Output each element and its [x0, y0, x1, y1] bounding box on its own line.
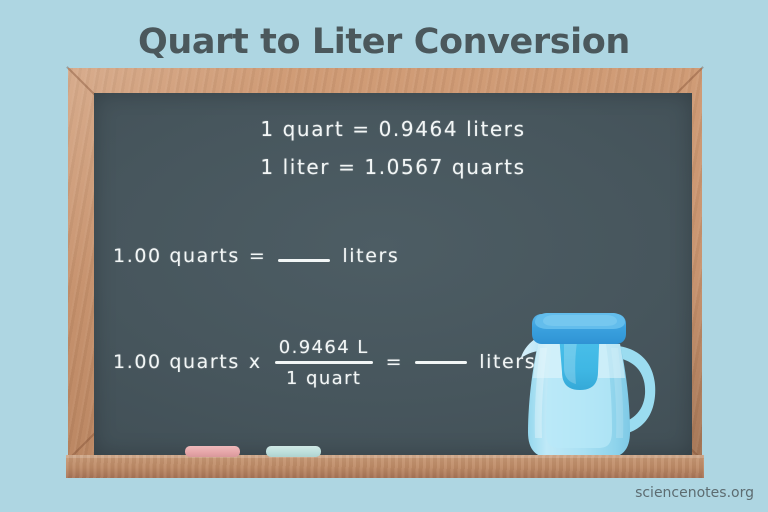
work-equals-sign: =	[386, 351, 404, 373]
fraction-denominator: 1 quart	[282, 364, 365, 389]
pink-chalk-stick	[185, 446, 240, 457]
conversion-factor-fraction: 0.9464 L 1 quart	[275, 337, 373, 389]
board-surface: 1 quart = 0.9464 liters 1 liter = 1.0567…	[94, 93, 692, 455]
pitcher-lid-top-highlight	[543, 315, 617, 326]
work-multiply-sign: x	[249, 351, 262, 373]
conversion-line-quart-to-liter: 1 quart = 0.9464 liters	[94, 117, 692, 141]
setup-quantity: 1.00 quarts	[113, 245, 240, 267]
water-pitcher-icon	[514, 300, 662, 475]
setup-answer-blank	[278, 259, 330, 262]
chalk-ledge	[66, 455, 704, 478]
setup-equation: 1.00 quarts = liters	[113, 245, 399, 267]
setup-equals-sign: =	[249, 245, 267, 267]
chalkboard: 1 quart = 0.9464 liters 1 liter = 1.0567…	[68, 68, 702, 478]
page-title: Quart to Liter Conversion	[0, 22, 768, 62]
site-watermark: sciencenotes.org	[635, 485, 754, 501]
teal-chalk-stick	[266, 446, 321, 457]
work-equation: 1.00 quarts x 0.9464 L 1 quart = liters	[113, 336, 536, 388]
work-answer-blank	[415, 361, 467, 364]
poster-canvas: Quart to Liter Conversion 1 quart = 0.94…	[0, 0, 768, 512]
conversion-line-liter-to-quart: 1 liter = 1.0567 quarts	[94, 155, 692, 179]
setup-unit: liters	[342, 245, 399, 267]
work-quantity: 1.00 quarts	[113, 351, 240, 373]
fraction-numerator: 0.9464 L	[275, 337, 373, 361]
